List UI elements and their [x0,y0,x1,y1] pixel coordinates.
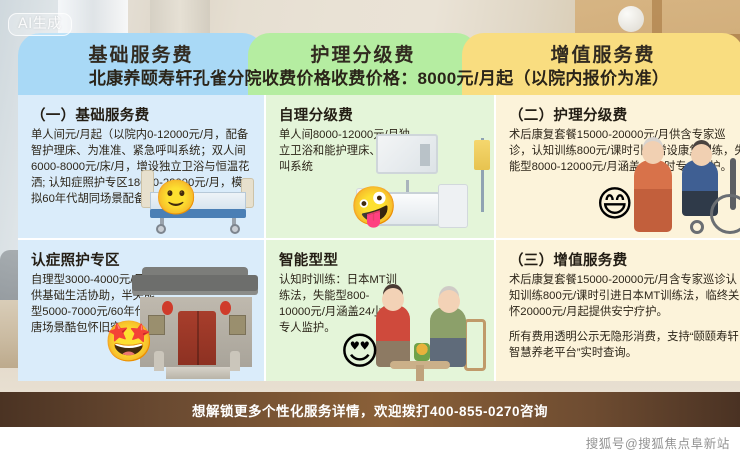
cell-value-added-service-fee: （三）增值服务费 术后康复套餐15000-20000元/月含专家巡诊认知训练80… [496,238,740,381]
cell-text: 单人间元/月起（以院内0-12000元/月，配备智护理床、为准准、紧急呼叫系统；… [31,127,253,207]
column-value-added: （二）护理分级费 术后康复套餐15000-20000元/月供含专家巡诊，认知训练… [494,95,740,381]
cell-text: 认知时训练：日本MT训练法，失能型800-10000元/月涵盖24小时专人监护。 [279,272,397,336]
bathroom-faucet [406,180,409,192]
zany-face-emoji: 🤪 [350,187,397,225]
pricing-card: 基础服务费 护理分级费 增值服务费 北康养颐寿轩孔雀分院收费价格收费价格：800… [18,33,740,381]
round-table [390,361,450,369]
iv-pole [481,138,484,212]
cell-title: 认症照护专区 [31,249,253,270]
wheelchair-large-wheel [710,194,740,234]
house-steps [166,367,230,379]
elderly-man-head [438,290,460,313]
cell-dementia-care-zone: 认症照护专区 自理型3000-4000元/月提供基础生活协助，半失能型5000-… [18,238,264,381]
star-struck-emoji: 🤩 [104,322,154,362]
bathroom-cabinet [438,184,468,228]
column-basic: （一）基础服务费 单人间元/月起（以院内0-12000元/月，配备智护理床、为准… [18,95,264,381]
background-vase [618,6,644,32]
potted-flower [414,343,430,361]
watermark-strip: 搜狐号@搜狐焦点阜新站 [0,427,740,456]
bed-wheel-left [156,224,166,234]
bed-leg-right [232,218,236,230]
wheelchair-small-wheel [690,220,704,234]
cell-nursing-grading-fee: （二）护理分级费 术后康复套餐15000-20000元/月供含专家巡诊，认知训练… [496,95,740,238]
cell-title: （一）基础服务费 [31,104,253,125]
red-lantern-right [220,301,231,315]
card-body: （一）基础服务费 单人间元/月起（以院内0-12000元/月，配备智护理床、为准… [18,95,740,381]
cell-text: 术后康复套餐15000-20000元/月含专家巡诊认知训练800元/课时引进日本… [509,272,740,320]
house-pillar-right [230,351,240,371]
header-subtitle: 北康养颐寿轩孔雀分院收费价格收费价格：8000元/月起（以院内报价为准） [18,64,740,89]
elderly-man [430,307,466,367]
bed-leg-left [160,218,164,230]
cta-footer-text: 想解锁更多个性化服务详情，欢迎拨打400-855-0270咨询 [192,400,548,420]
house-window-right [229,315,246,335]
bed-wheel-right [230,224,240,234]
cell-title: （三）增值服务费 [509,249,740,270]
cell-title: 智能型型 [279,249,483,270]
cell-title: 自理分级费 [279,104,483,125]
iv-bag [474,140,490,170]
cell-self-care-grading-fee: 自理分级费 单人间8000-12000元/月独立卫浴和能护理床、紧急呼叫系统 🤪 [266,95,494,238]
cell-text-secondary: 所有费用透明公示无隐形消费，支持“颐颐寿轩智慧养老平台”实时查询。 [509,329,740,361]
table-leg [416,365,424,381]
column-nursing: 自理分级费 单人间8000-12000元/月独立卫浴和能护理床、紧急呼叫系统 🤪… [264,95,494,381]
cell-text: 术后康复套餐15000-20000元/月供含专家巡诊，认知训练800元/课时引进… [509,127,740,175]
cell-text: 单人间8000-12000元/月独立卫浴和能护理床、紧急呼叫系统 [279,127,419,175]
card-header: 基础服务费 护理分级费 增值服务费 北康养颐寿轩孔雀分院收费价格收费价格：800… [18,33,740,95]
wooden-chair [464,319,486,371]
smiling-face-emoji: 🙂 [155,181,197,215]
ai-generated-badge: AI生成 [8,13,72,36]
cell-smart-type: 智能型型 认知时训练：日本MT训练法，失能型800-10000元/月涵盖24小时… [266,238,494,381]
heart-eyes-emoji: 😍 [340,332,380,370]
grinning-face-emoji: 😄 [596,187,634,223]
house-pillar-left [154,351,164,371]
cell-title: （二）护理分级费 [509,104,740,125]
house-door [178,311,216,365]
cta-footer-bar: 想解锁更多个性化服务详情，欢迎拨打400-855-0270咨询 [0,392,740,427]
cell-basic-service-fee: （一）基础服务费 单人间元/月起（以院内0-12000元/月，配备智护理床、为准… [18,95,264,238]
source-watermark: 搜狐号@搜狐焦点阜新站 [586,433,730,452]
